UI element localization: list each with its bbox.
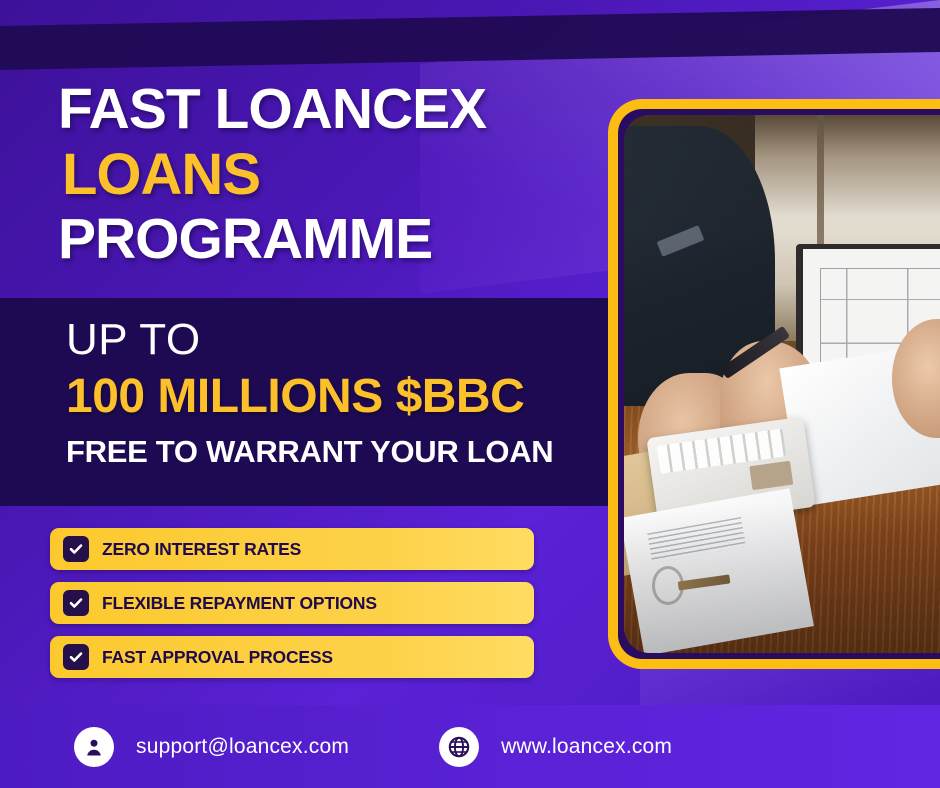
feature-pill-zero-interest-rates[interactable]: ZERO INTEREST RATES	[50, 528, 534, 570]
top-dark-band	[0, 8, 940, 70]
photo-keys	[652, 556, 741, 610]
offer-amount: 100 MILLIONS $BBC	[66, 372, 553, 422]
feature-pill-fast-approval-process[interactable]: FAST APPROVAL PROCESS	[50, 636, 534, 678]
photo-frame	[608, 99, 940, 669]
hero-photo	[624, 115, 940, 653]
feature-label: FLEXIBLE REPAYMENT OPTIONS	[102, 593, 377, 614]
photo-key-body	[678, 574, 731, 590]
contact-website-text: www.loancex.com	[501, 735, 672, 759]
contact-email[interactable]: support@loancex.com	[74, 727, 349, 767]
person-icon	[74, 727, 114, 767]
contact-website[interactable]: www.loancex.com	[439, 727, 672, 767]
offer-note: FREE TO WARRANT YOUR LOAN	[66, 434, 553, 470]
offer-prefix: UP TO	[66, 318, 553, 362]
feature-pill-flexible-repayment-options[interactable]: FLEXIBLE REPAYMENT OPTIONS	[50, 582, 534, 624]
feature-label: FAST APPROVAL PROCESS	[102, 647, 333, 668]
headline-line-1: FAST LOANCEX	[58, 82, 618, 138]
feature-list: ZERO INTEREST RATES FLEXIBLE REPAYMENT O…	[50, 528, 534, 690]
loan-promo-banner: FAST LOANCEX LOANS PROGRAMME UP TO 100 M…	[0, 0, 940, 788]
headline-line-3: PROGRAMME	[58, 212, 618, 268]
headline-block: FAST LOANCEX LOANS PROGRAMME	[58, 82, 618, 268]
contact-footer: support@loancex.com www.loancex.com	[0, 705, 940, 788]
contact-email-text: support@loancex.com	[136, 735, 349, 759]
check-icon	[63, 590, 89, 616]
check-icon	[63, 644, 89, 670]
headline-line-2: LOANS	[62, 147, 618, 204]
globe-icon	[439, 727, 479, 767]
offer-text-block: UP TO 100 MILLIONS $BBC FREE TO WARRANT …	[66, 318, 553, 470]
photo-calculator-display	[749, 461, 793, 490]
check-icon	[63, 536, 89, 562]
feature-label: ZERO INTEREST RATES	[102, 539, 301, 560]
